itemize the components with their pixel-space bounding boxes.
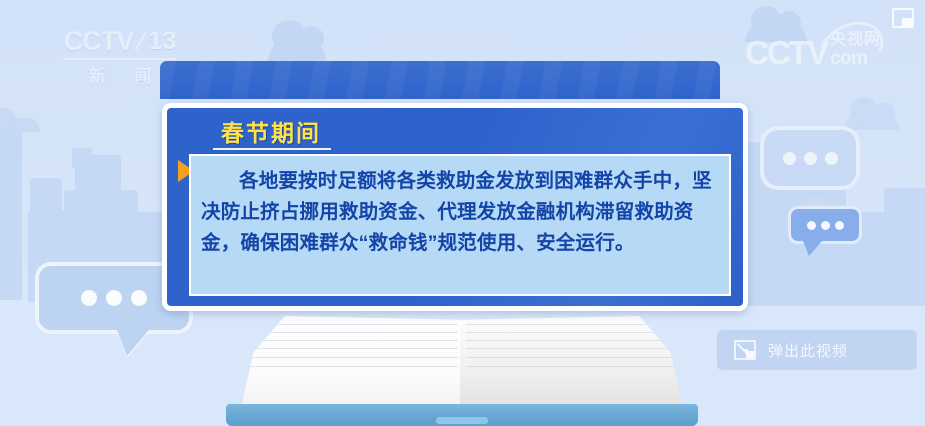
open-book-illustration (202, 308, 722, 426)
building-silhouette (72, 148, 92, 168)
caption-card: 春节期间 各地要按时足额将各类救助金发放到困难群众手中，坚决防止挤占挪用救助资金… (162, 103, 748, 311)
cctv-slash-icon: / (133, 26, 149, 57)
caption-top-panel (160, 61, 720, 99)
cloud-decoration (0, 118, 40, 132)
cctv13-channel-watermark: CCTV / 13 新 闻 (55, 26, 185, 87)
pop-out-video-button[interactable]: 弹出此视频 (717, 330, 917, 370)
pop-out-arrow-glyph (738, 343, 749, 354)
pop-out-video-label: 弹出此视频 (768, 340, 848, 361)
cctv-com-watermark: CCTV 央视网 com (745, 32, 881, 69)
cloud-decoration (268, 34, 326, 64)
building-silhouette (884, 188, 925, 306)
cctv13-logo-row: CCTV / 13 (55, 26, 185, 57)
bubble-dot (81, 290, 97, 306)
bubble-dot (783, 152, 796, 165)
picture-in-picture-icon[interactable] (892, 8, 914, 28)
cctv-channel-number: 13 (148, 27, 176, 56)
caption-body-text: 各地要按时足额将各类救助金发放到困难群众手中，坚决防止挤占挪用救助资金、代理发放… (191, 156, 729, 259)
caption-title: 春节期间 (221, 114, 321, 148)
cctv-logo-rule (63, 58, 177, 60)
caption-inner-panel: 各地要按时足额将各类救助金发放到困难群众手中，坚决防止挤占挪用救助资金、代理发放… (189, 154, 731, 296)
panel-sheen (160, 61, 720, 99)
cctv-channel-subtitle: 新 闻 (55, 62, 185, 87)
cctv-com-brand: CCTV (745, 37, 827, 68)
bubble-dot (807, 221, 816, 230)
pop-out-arrow-icon (734, 340, 756, 360)
bubble-dot (821, 221, 830, 230)
pip-inner-frame (902, 18, 912, 26)
cctv-wordmark: CCTV (64, 26, 134, 57)
building-silhouette (0, 130, 22, 300)
book-page-left (240, 316, 464, 412)
book-page-right (460, 316, 684, 412)
book-cover (226, 404, 698, 426)
bubble-dot (825, 152, 838, 165)
cloud-decoration (845, 110, 899, 130)
caption-title-underline (213, 148, 331, 150)
bubble-dot (106, 290, 122, 306)
speech-bubble-ghost (760, 126, 860, 190)
bubble-dot (804, 152, 817, 165)
video-player-frame: 春节期间 各地要按时足额将各类救助金发放到困难群众手中，坚决防止挤占挪用救助资金… (0, 0, 925, 426)
speech-bubble-small (788, 206, 862, 244)
bubble-dot (835, 221, 844, 230)
bubble-dot (131, 290, 147, 306)
